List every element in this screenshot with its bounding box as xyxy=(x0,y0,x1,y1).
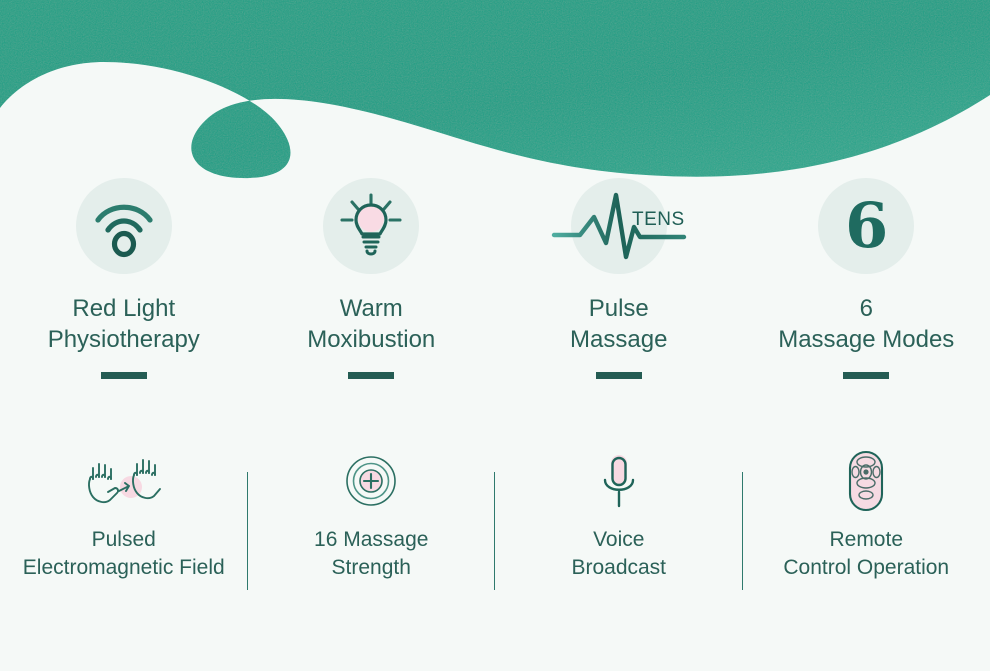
feature-label: Pulsed Electromagnetic Field xyxy=(23,526,225,582)
feature-label: Remote Control Operation xyxy=(783,526,949,582)
feature-label: Pulse Massage xyxy=(570,294,667,355)
feature-label: Voice Broadcast xyxy=(571,526,666,582)
remote-control-icon xyxy=(846,450,886,512)
underline-bar xyxy=(348,372,394,379)
two-hands-icon xyxy=(81,450,167,512)
concentric-circles-plus-icon xyxy=(345,450,397,512)
underline-bar xyxy=(843,372,889,379)
feature-highlights-page: Red Light Physiotherapy xyxy=(0,0,990,671)
underline-bar xyxy=(596,372,642,379)
secondary-feature-row: Pulsed Electromagnetic Field 16 Massage … xyxy=(0,450,990,610)
badge-circle xyxy=(323,178,419,274)
lightbulb-rays-icon xyxy=(338,193,404,259)
feature-pulsed-electromagnetic-field[interactable]: Pulsed Electromagnetic Field xyxy=(0,450,248,610)
tens-label: TENS xyxy=(632,209,685,230)
feature-red-light-physiotherapy[interactable]: Red Light Physiotherapy xyxy=(0,178,248,413)
badge-circle: TENS xyxy=(571,178,667,274)
feature-massage-modes[interactable]: 6 6 Massage Modes xyxy=(743,178,990,413)
microphone-icon xyxy=(597,450,641,512)
feature-voice-broadcast[interactable]: Voice Broadcast xyxy=(495,450,743,610)
wifi-signal-icon xyxy=(92,195,156,257)
feature-pulse-massage[interactable]: TENS Pulse Massage xyxy=(495,178,743,413)
primary-feature-row: Red Light Physiotherapy xyxy=(0,178,990,413)
feature-label: 6 Massage Modes xyxy=(778,294,954,355)
pulse-waveform-tens-icon: TENS xyxy=(554,187,684,265)
badge-circle xyxy=(76,178,172,274)
feature-label: Red Light Physiotherapy xyxy=(48,294,200,355)
feature-label: Warm Moxibustion xyxy=(307,294,435,355)
feature-warm-moxibustion[interactable]: Warm Moxibustion xyxy=(248,178,496,413)
feature-label: 16 Massage Strength xyxy=(314,526,428,582)
underline-bar xyxy=(101,372,147,379)
feature-massage-strength[interactable]: 16 Massage Strength xyxy=(248,450,496,610)
feature-remote-control-operation[interactable]: Remote Control Operation xyxy=(743,450,990,610)
badge-circle: 6 xyxy=(818,178,914,274)
numeral-six-icon: 6 xyxy=(845,195,887,257)
wave-shape xyxy=(0,0,990,178)
